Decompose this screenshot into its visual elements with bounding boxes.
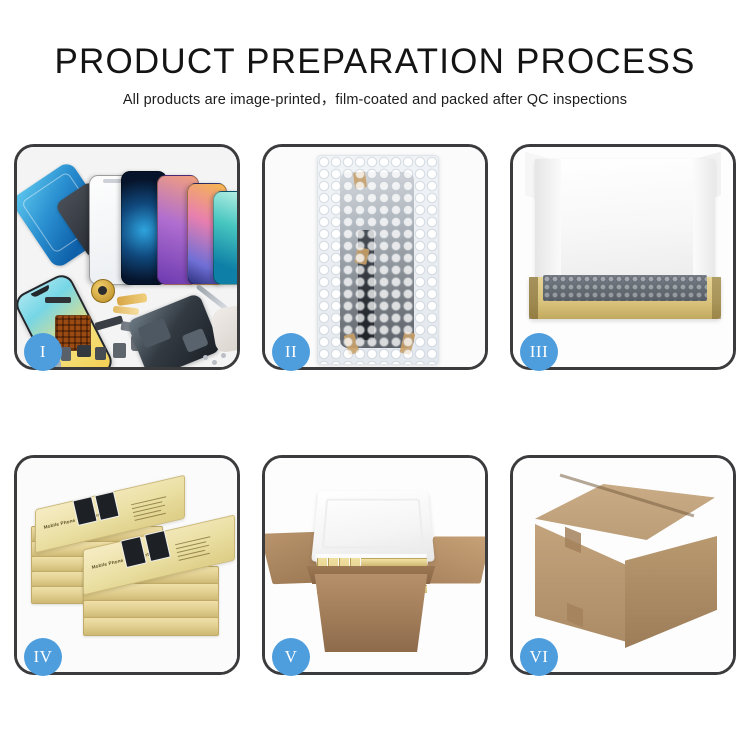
product-preparation-infographic: PRODUCT PREPARATION PROCESS All products… [0, 0, 750, 750]
page-title: PRODUCT PREPARATION PROCESS [0, 44, 750, 79]
box-stack-group: Mobile Phone Spare Parts Mobile Phone Sp… [27, 480, 237, 660]
carton-right-face [625, 536, 717, 648]
flex-cable-part-2 [113, 306, 140, 316]
screw-parts-group [203, 353, 229, 367]
stacked-box-front-4 [83, 617, 219, 636]
ribbon-cable-part [94, 315, 123, 330]
process-step-panel-4: Mobile Phone Spare Parts Mobile Phone Sp… [14, 455, 240, 675]
step-badge-1: I [24, 333, 62, 371]
process-step-panel-5: V [262, 455, 488, 675]
step-badge-5: V [272, 638, 310, 676]
process-steps-grid: I II [14, 144, 736, 675]
step-badge-2: II [272, 333, 310, 371]
step-badge-4: IV [24, 638, 62, 676]
phone-screen-fan-group [89, 155, 237, 285]
camera-lens-part [91, 279, 115, 303]
step-badge-3: III [520, 333, 558, 371]
process-step-panel-3: III [510, 144, 736, 370]
process-step-panel-1: I [14, 144, 240, 370]
page-subtitle: All products are image-printed，film-coat… [0, 93, 750, 108]
step-badge-6: VI [520, 638, 558, 676]
process-step-panel-2: II [262, 144, 488, 370]
small-part-5 [113, 343, 126, 358]
bubble-texture-overlay [318, 156, 438, 364]
flex-cable-part-1 [117, 293, 148, 306]
bubble-wrapped-content [543, 275, 707, 301]
bubble-wrap-bag [317, 155, 439, 365]
header: PRODUCT PREPARATION PROCESS All products… [0, 0, 750, 108]
process-step-panel-6: VI [510, 455, 736, 675]
phone-screen-teal [213, 191, 237, 285]
small-part-4 [95, 347, 106, 360]
white-foam-insert [535, 159, 715, 281]
foam-lid-open [311, 491, 435, 562]
small-part-3 [77, 345, 91, 357]
chip-bar-part [45, 297, 71, 303]
small-part-2 [61, 347, 71, 361]
carton-body [307, 574, 435, 652]
